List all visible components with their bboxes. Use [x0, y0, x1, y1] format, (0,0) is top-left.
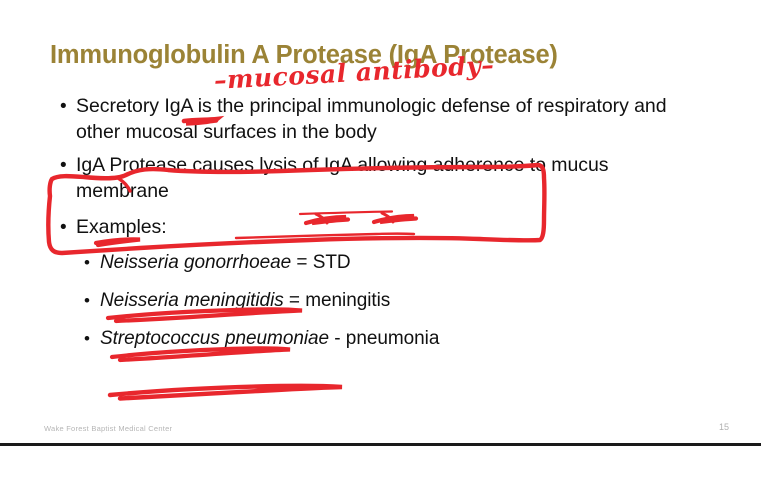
bullet-item-3: • Examples: [58, 215, 698, 241]
bullet-item-2: • IgA Protease causes lysis of IgA allow… [58, 153, 698, 204]
bullet-marker-icon: • [84, 326, 90, 351]
page-number: 15 [719, 422, 729, 432]
bullet-marker-icon: • [84, 288, 90, 313]
sub-bullet-item-3-rest: - pneumonia [329, 328, 439, 349]
slide-body: • Secretory IgA is the principal immunol… [58, 94, 698, 351]
sub-bullet-item-1-rest: = STD [291, 252, 350, 273]
bullet-item-1: • Secretory IgA is the principal immunol… [58, 94, 698, 145]
species-name-meningitidis: Neisseria meningitidis [100, 290, 284, 311]
below-slide-whitespace [0, 446, 761, 496]
sub-bullet-item-2-rest: = meningitis [284, 290, 391, 311]
slide-canvas: Immunoglobulin A Protease (IgA Protease)… [0, 0, 761, 446]
sub-bullet-item-2: • Neisseria meningitidis = meningitis [82, 288, 698, 313]
bullet-marker-icon: • [84, 250, 90, 275]
bullet-marker-icon: • [60, 94, 67, 120]
bullet-marker-icon: • [60, 153, 67, 179]
bullet-item-2-text: IgA Protease causes lysis of IgA allowin… [76, 154, 608, 202]
underline-streptococcus-pneumoniae-icon [110, 386, 342, 399]
bullet-item-1-text: Secretory IgA is the principal immunolog… [76, 95, 667, 143]
footer-organization-label: Wake Forest Baptist Medical Center [44, 424, 172, 433]
bullet-marker-icon: • [60, 215, 67, 241]
sub-bullet-item-3: • Streptococcus pneumoniae - pneumonia [82, 326, 698, 351]
species-name-pneumoniae: Streptococcus pneumoniae [100, 328, 329, 349]
bullet-item-3-text: Examples: [76, 216, 167, 238]
species-name-gonorrhoeae: Neisseria gonorrhoeae [100, 252, 291, 273]
sub-bullet-item-1: • Neisseria gonorrhoeae = STD [82, 250, 698, 275]
